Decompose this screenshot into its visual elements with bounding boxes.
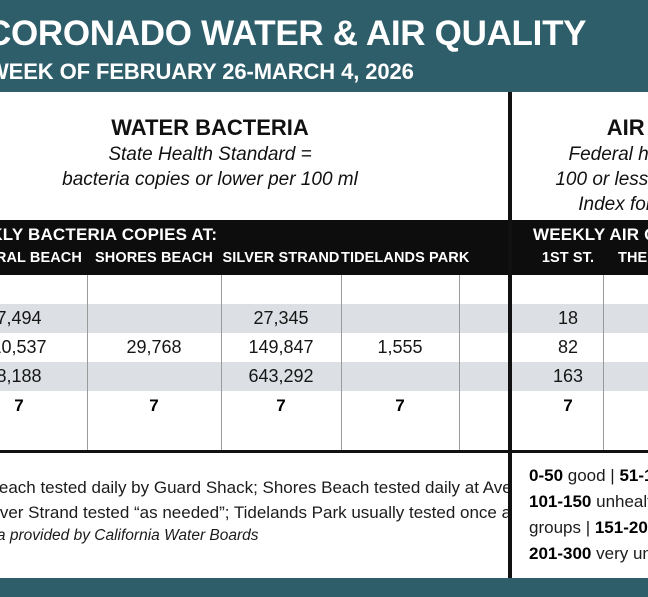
table-cell — [87, 275, 221, 304]
air-column-headers: 1ST ST.THE COVE — [512, 250, 648, 275]
aqi-legend-line: groups | 151-200 unhealthy | — [529, 515, 648, 541]
column-header: CENTRAL BEACH — [0, 250, 87, 266]
column-header: THE COVE — [603, 250, 648, 266]
table-cell — [603, 304, 648, 333]
table-total-row: 7777 — [0, 391, 508, 420]
aqi-legend-line: 101-150 unhealthy for sensitive — [529, 489, 648, 515]
infographic-page: CORONADO WATER & AIR QUALITY WEEK OF FEB… — [0, 0, 648, 597]
table-cell: 10,537 — [0, 333, 87, 362]
column-header: TIDELANDS PARK — [341, 250, 459, 266]
table-row: 82 — [512, 333, 648, 362]
table-row: 8,188643,292 — [0, 362, 508, 391]
masthead-banner: CORONADO WATER & AIR QUALITY WEEK OF FEB… — [0, 0, 648, 92]
air-standard-line-2: 100 or less on the Air Quality — [512, 167, 648, 192]
column-header: SILVER STRAND — [221, 250, 341, 266]
table-cell: 7,494 — [0, 304, 87, 333]
air-panel-title: AIR QUALITY — [512, 114, 648, 142]
table-cell: 643,292 — [221, 362, 341, 391]
table-cell: 149,847 — [221, 333, 341, 362]
footnote-line: Lunar; Silver Strand tested “as needed”;… — [0, 500, 508, 525]
table-cell: 7 — [221, 391, 341, 420]
air-group-header: WEEKLY AIR QUALITY AT: — [533, 225, 648, 245]
column-divider — [459, 275, 460, 450]
table-cell — [603, 275, 648, 304]
water-standard-line-2: bacteria copies or lower per 100 ml — [0, 167, 470, 192]
table-cell: 7 — [533, 391, 603, 420]
panel-divider — [508, 92, 512, 578]
column-divider — [603, 275, 604, 450]
air-standard-line-1: Federal health standard = — [512, 142, 648, 167]
aqi-legend-line: 201-300 very unhealthy | 301+ — [529, 541, 648, 567]
table-cell — [341, 275, 459, 304]
aqi-legend-line: hazardous. Data from AirNow — [529, 567, 648, 570]
water-table-header-band: WEEKLY BACTERIA COPIES AT: CENTRAL BEACH… — [0, 220, 508, 275]
water-panel-title: WATER BACTERIA — [0, 114, 470, 142]
table-row: 10,53729,768149,8471,555 — [0, 333, 508, 362]
table-cell: 8,188 — [0, 362, 87, 391]
water-data-table: 7,49427,34510,53729,768149,8471,5558,188… — [0, 275, 508, 450]
table-cell: 29,768 — [87, 333, 221, 362]
air-panel-header: AIR QUALITY Federal health standard = 10… — [512, 92, 648, 220]
table-cell — [341, 362, 459, 391]
water-standard-line-1: State Health Standard = — [0, 142, 470, 167]
water-column-headers: CENTRAL BEACHSHORES BEACHSILVER STRANDTI… — [0, 250, 508, 275]
table-cell: 1,555 — [341, 333, 459, 362]
table-cell — [0, 275, 87, 304]
footnote-line: Central Beach tested daily by Guard Shac… — [0, 475, 508, 500]
water-panel-header: WATER BACTERIA State Health Standard = b… — [0, 92, 508, 220]
table-cell — [87, 362, 221, 391]
table-cell — [533, 275, 603, 304]
table-row: 7,49427,345 — [0, 304, 508, 333]
aqi-legend-line: 0-50 good | 51-100 moderate | — [529, 463, 648, 489]
page-title: CORONADO WATER & AIR QUALITY — [0, 14, 586, 54]
water-group-header: WEEKLY BACTERIA COPIES AT: — [0, 225, 217, 245]
table-row — [0, 275, 508, 304]
table-cell — [87, 304, 221, 333]
column-divider — [221, 275, 222, 450]
column-header: 1ST ST. — [533, 250, 603, 266]
air-table-header-band: WEEKLY AIR QUALITY AT: 1ST ST.THE COVE — [512, 220, 648, 275]
table-cell — [603, 333, 648, 362]
table-cell: 18 — [533, 304, 603, 333]
table-cell: 7 — [0, 391, 87, 420]
footnote-line: week. Data provided by California Water … — [0, 525, 508, 547]
air-standard-line-3: Index for each pollutant — [512, 192, 648, 217]
table-row — [512, 275, 648, 304]
table-cell: 82 — [533, 333, 603, 362]
footer-band — [0, 578, 648, 597]
column-header: SHORES BEACH — [87, 250, 221, 266]
table-cell — [603, 362, 648, 391]
page-subtitle: WEEK OF FEBRUARY 26-MARCH 4, 2026 — [0, 59, 414, 85]
table-total-row: 7 — [512, 391, 648, 420]
air-aqi-legend: 0-50 good | 51-100 moderate |101-150 unh… — [512, 453, 648, 570]
table-cell: 27,345 — [221, 304, 341, 333]
water-footnotes: Central Beach tested daily by Guard Shac… — [0, 453, 508, 570]
table-cell — [341, 304, 459, 333]
column-divider — [87, 275, 88, 450]
air-data-table: 18821637 — [512, 275, 648, 450]
column-divider — [341, 275, 342, 450]
table-cell: 7 — [341, 391, 459, 420]
content-sheet: WATER BACTERIA State Health Standard = b… — [0, 92, 648, 578]
table-cell: 7 — [87, 391, 221, 420]
table-row: 18 — [512, 304, 648, 333]
table-cell — [221, 275, 341, 304]
table-cell — [603, 391, 648, 420]
table-cell: 163 — [533, 362, 603, 391]
table-row: 163 — [512, 362, 648, 391]
